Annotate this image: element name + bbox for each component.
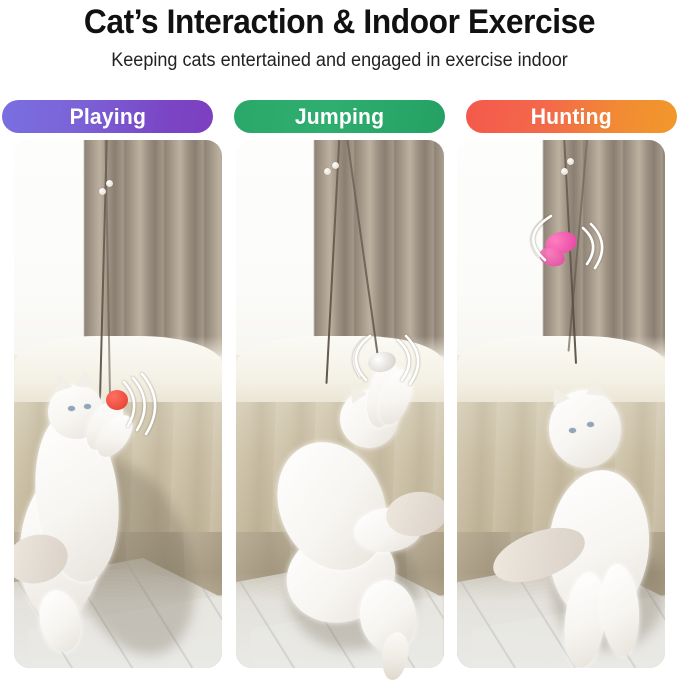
cat-eye-left (569, 428, 576, 433)
panel-hunting (457, 140, 665, 668)
photo-hunting (457, 140, 665, 668)
cat-eye-left (68, 406, 75, 411)
page-subtitle: Keeping cats entertained and engaged in … (17, 42, 662, 73)
wire-bead (561, 168, 568, 175)
badge-hunting-label: Hunting (531, 104, 612, 130)
photo-playing (14, 140, 222, 668)
panel-jumping (236, 140, 444, 668)
photo-panel-row (0, 140, 679, 679)
product-infographic: Cat’s Interaction & Indoor Exercise Keep… (0, 0, 679, 679)
cat-ear-right (75, 369, 95, 388)
panel-playing (14, 140, 222, 668)
wire-bead (99, 188, 106, 195)
wire-bead (324, 168, 331, 175)
cat-eye-right (587, 422, 594, 427)
wire-bead (332, 162, 339, 169)
cat-eye-right (84, 404, 91, 409)
header: Cat’s Interaction & Indoor Exercise Keep… (0, 0, 679, 73)
badge-jumping: Jumping (234, 100, 445, 133)
page-title: Cat’s Interaction & Indoor Exercise (24, 0, 655, 42)
category-badge-row: Playing Jumping Hunting (0, 100, 679, 133)
photo-jumping (236, 140, 444, 668)
wire-bead (106, 180, 113, 187)
red-wand-toy (106, 390, 128, 410)
cat-ear-right (586, 377, 606, 396)
badge-jumping-label: Jumping (295, 104, 384, 130)
badge-playing: Playing (2, 100, 213, 133)
badge-playing-label: Playing (69, 104, 145, 130)
badge-hunting: Hunting (466, 100, 677, 133)
wire-bead (567, 158, 574, 165)
